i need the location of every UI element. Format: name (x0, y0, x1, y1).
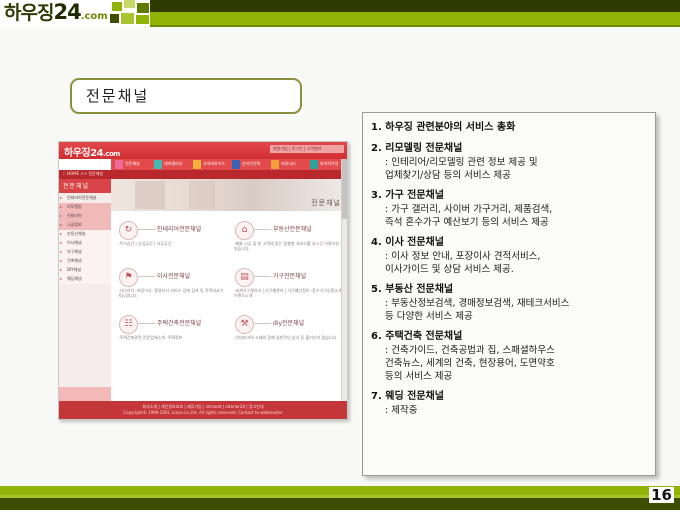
description-item-line: : 이사 정보 안내, 포장이사 견적서비스, (371, 250, 649, 263)
channel-name: 이사전문채널 (157, 271, 190, 280)
description-item-heading: 7. 웨딩 전문채널 (371, 390, 649, 404)
site-sidebar-item-label: 부동산채널 (67, 231, 85, 237)
channel-description: -매물 시공 및 분 고객에 맞는 맞춤형 서비스를 실시간 이용하실 수 있습… (234, 241, 344, 251)
site-utility-links: 회원가입 | 로그인 | 고객센터 (273, 146, 321, 152)
channel-icon: ⌂ (235, 221, 254, 240)
description-item-line: 이사가이드 및 상담 서비스 제공. (371, 263, 649, 276)
sidebar-bullet-icon: ▸ (60, 204, 62, 209)
description-item-line: 등 다양한 서비스 제공 (371, 310, 649, 323)
slide-title-box: 전문채널 (70, 78, 302, 114)
site-sidebar-item-label: 인테리어 (67, 213, 82, 219)
site-nav-swatch (193, 160, 201, 169)
site-nav-item-5[interactable]: 커뮤니티 (271, 160, 309, 169)
description-list: 1. 하우징 관련분야의 서비스 총화2. 리모델링 전문채널: 인테리어/리모… (363, 113, 655, 424)
site-nav-swatch (310, 160, 318, 169)
brand-logo-number: 24 (53, 0, 80, 24)
channel-name: diy전문채널 (273, 318, 304, 327)
site-logo-dotcom: .com (103, 150, 120, 158)
channel-icon: ⚒ (235, 315, 254, 334)
site-sidebar-item-label: 인테리어전문채널 (67, 195, 96, 201)
sidebar-bullet-icon: ▸ (60, 276, 62, 281)
site-sidebar-item-6[interactable]: ▸이사채널 (59, 239, 111, 248)
channel-connector (137, 276, 155, 277)
description-item-line: : 제작중 (371, 404, 649, 417)
channel-icon: ⚑ (119, 268, 138, 287)
channel-link-2[interactable]: ⌂부동산전문채널-매물 시공 및 분 고객에 맞는 맞춤형 서비스를 실시간 이… (233, 219, 345, 263)
description-item-line: : 가구 갤러리, 사이버 가구거리, 제품검색, (371, 203, 649, 216)
site-nav-swatch (115, 160, 123, 169)
site-sidebar-item-5[interactable]: ▸부동산채널 (59, 230, 111, 239)
site-sidebar-item-2[interactable]: ▸리모델링 (59, 203, 111, 212)
site-logo-number: 24 (90, 148, 103, 159)
site-sidebar-item-label: 시공정보 (67, 222, 82, 228)
brand-logo-dotcom: .com (81, 11, 108, 22)
site-banner: 전문채널 (111, 179, 347, 211)
description-item-heading: 3. 가구 전문채널 (371, 189, 649, 203)
channel-link-5[interactable]: ☷주택건축전문채널-주택건축관련 전문업체소개 -주택정보 (117, 313, 229, 357)
site-nav-label: 테마갤러리 (164, 161, 182, 167)
sidebar-bullet-icon: ▸ (60, 231, 62, 236)
channel-link-6[interactable]: ⚒diy전문채널-인테리어의 소재와 함께 일반적인 상식 등 볼거리가 많습니… (233, 313, 345, 357)
site-footer-copyright: Copyright© 1999-2001 acasa.co.,ltd. All … (59, 410, 347, 415)
site-footer: 회사소개 | 개인정보보호 | 제휴가입 | intranet | interi… (59, 401, 347, 419)
channel-connector (253, 323, 271, 324)
description-item-2: 2. 리모델링 전문채널: 인테리어/리모델링 관련 정보 제공 및업체찾기/상… (371, 142, 649, 182)
description-item-line: : 인테리어/리모델링 관련 정보 제공 및 (371, 156, 649, 169)
site-nav-item-4[interactable]: 온라인견적 (232, 160, 270, 169)
description-item-heading: 4. 이사 전문채널 (371, 236, 649, 250)
site-breadcrumb: :: HOME >> 전문채널 (59, 170, 347, 179)
description-item-heading: 5. 부동산 전문채널 (371, 283, 649, 297)
site-sidebar-title-text: 전문채널 (63, 181, 89, 190)
logo-square-6 (136, 15, 149, 24)
site-nav-swatch (154, 160, 162, 169)
description-item-line: : 건축가이드, 건축공법과 집, 스패셜하우스 (371, 344, 649, 357)
site-sidebar-item-9[interactable]: ▸DIY채널 (59, 266, 111, 275)
channel-link-3[interactable]: ⚑이사전문채널-사다리차 -포장이사 -용달이사 서비스 업체 검색 및 견적비… (117, 266, 229, 310)
logo-square-2 (124, 0, 135, 8)
channel-connector (137, 323, 155, 324)
channel-icon: ↻ (119, 221, 138, 240)
brand-logo-korean: 하우징 (4, 2, 53, 24)
site-sidebar-item-10[interactable]: ▸웨딩채널 (59, 275, 111, 284)
site-logo-korean: 하우징 (64, 148, 90, 159)
site-sidebar-item-label: 리모델링 (67, 204, 82, 210)
description-item-line: : 부동산정보검색, 경매정보검색, 재테크서비스 (371, 297, 649, 310)
logo-square-1 (112, 2, 122, 11)
site-nav-label: 전문채널 (125, 161, 140, 167)
description-item-heading: 2. 리모델링 전문채널 (371, 142, 649, 156)
site-sidebar-footer-block (59, 387, 111, 401)
site-nav-label: 온라인견적 (242, 161, 260, 167)
sidebar-bullet-icon: ▸ (60, 267, 62, 272)
logo-square-3 (137, 3, 149, 13)
description-item-heading: 1. 하우징 관련분야의 서비스 총화 (371, 121, 649, 135)
channel-connector (253, 276, 271, 277)
site-sidebar-title: 전문채널 (59, 179, 111, 193)
description-item-line: 즉석 혼수가구 예산보기 등의 서비스 제공 (371, 216, 649, 229)
site-utility-bar[interactable]: 회원가입 | 로그인 | 고객센터 (270, 145, 344, 153)
site-banner-text: 전문채널 (311, 198, 341, 208)
site-sidebar-item-label: 가구채널 (67, 249, 82, 255)
site-nav-label: 커뮤니티 (281, 161, 296, 167)
description-item-3: 3. 가구 전문채널: 가구 갤러리, 사이버 가구거리, 제품검색,즉석 혼수… (371, 189, 649, 229)
site-nav-label: 사이버하우스 (203, 161, 225, 167)
channel-name: 가구전문채널 (273, 271, 306, 280)
description-item-line: 건축뉴스, 세계의 건축, 현장용어, 도면약호 (371, 357, 649, 370)
site-header: 하우징24.com 회원가입 | 로그인 | 고객센터 (59, 142, 347, 159)
sidebar-bullet-icon: ▸ (60, 213, 62, 218)
site-sidebar: 전문채널 ▸인테리어전문채널▸리모델링▸인테리어▸시공정보▸부동산채널▸이사채널… (59, 179, 111, 401)
sidebar-bullet-icon: ▸ (60, 258, 62, 263)
description-item-heading: 6. 주택건축 전문채널 (371, 330, 649, 344)
channel-name: 인테리어전문채널 (157, 224, 201, 233)
bottom-dark-bar (0, 498, 680, 510)
channel-description: -세계가구갤러리 | 가구별관리 | 가구예산정보 -혼수가구상품소개/브랜드소… (234, 288, 344, 298)
description-item-6: 6. 주택건축 전문채널: 건축가이드, 건축공법과 집, 스패셜하우스건축뉴스… (371, 330, 649, 383)
channel-connector (137, 229, 155, 230)
description-item-4: 4. 이사 전문채널: 이사 정보 안내, 포장이사 견적서비스,이사가이드 및… (371, 236, 649, 276)
site-breadcrumb-text: :: HOME >> 전문채널 (63, 171, 103, 177)
site-main-content: ↻인테리어전문채널-주거공간 | 상업공간 | 사무공간⌂부동산전문채널-매물 … (111, 211, 347, 401)
channel-link-1[interactable]: ↻인테리어전문채널-주거공간 | 상업공간 | 사무공간 (117, 219, 229, 263)
page-number: 16 (649, 487, 674, 503)
site-nav-swatch (232, 160, 240, 169)
site-scrollbar-thumb[interactable] (342, 159, 347, 219)
site-sidebar-item-4[interactable]: ▸시공정보 (59, 221, 111, 230)
logo-square-4 (110, 14, 119, 23)
description-item-line: 등의 서비스 제공 (371, 370, 649, 383)
site-sidebar-item-7[interactable]: ▸가구채널 (59, 248, 111, 257)
site-sidebar-item-label: DIY채널 (67, 267, 81, 273)
site-nav-item-3[interactable]: 사이버하우스 (193, 160, 231, 169)
sidebar-bullet-icon: ▸ (60, 195, 62, 200)
banner-block-1 (135, 181, 165, 209)
brand-logo: 하우징24.com (0, 0, 150, 27)
channel-description: -주거공간 | 상업공간 | 사무공간 (118, 241, 228, 246)
channel-connector (253, 229, 271, 230)
logo-square-5 (121, 13, 134, 24)
website-screenshot: 하우징24.com 회원가입 | 로그인 | 고객센터 전문채널테마갤러리사이버… (58, 141, 348, 420)
channel-icon: ▤ (235, 268, 254, 287)
channel-link-4[interactable]: ▤가구전문채널-세계가구갤러리 | 가구별관리 | 가구예산정보 -혼수가구상품… (233, 266, 345, 310)
site-sidebar-item-3[interactable]: ▸인테리어 (59, 212, 111, 221)
site-nav-label: 마이하우징 (320, 161, 338, 167)
sidebar-bullet-icon: ▸ (60, 240, 62, 245)
channel-icon: ☷ (119, 315, 138, 334)
site-nav-spacer (59, 159, 111, 170)
page-title: 전문채널 (86, 85, 149, 106)
site-sidebar-item-label: 이사채널 (67, 240, 82, 246)
site-nav-item-1[interactable]: 전문채널 (115, 160, 153, 169)
description-item-1: 1. 하우징 관련분야의 서비스 총화 (371, 121, 649, 135)
site-sidebar-item-label: 건축채널 (67, 258, 82, 264)
channel-description: -인테리어의 소재와 함께 일반적인 상식 등 볼거리가 많습니다. (234, 335, 344, 340)
site-logo: 하우징24.com (64, 144, 120, 159)
site-scrollbar[interactable] (341, 159, 347, 401)
channel-description: -사다리차 -포장이사 -용달이사 서비스 업체 검색 및 견적비교가 가능합니… (118, 288, 228, 298)
sidebar-bullet-icon: ▸ (60, 249, 62, 254)
sidebar-bullet-icon: ▸ (60, 222, 62, 227)
brand-logo-text: 하우징24.com (4, 1, 108, 28)
site-nav-item-2[interactable]: 테마갤러리 (154, 160, 192, 169)
description-item-line: 업체찾기/상담 등의 서비스 제공 (371, 169, 649, 182)
channel-name: 부동산전문채널 (273, 224, 312, 233)
site-sidebar-item-1[interactable]: ▸인테리어전문채널 (59, 194, 111, 203)
channel-description: -주택건축관련 전문업체소개 -주택정보 (118, 335, 228, 340)
site-nav-swatch (271, 160, 279, 169)
description-item-7: 7. 웨딩 전문채널: 제작중 (371, 390, 649, 417)
channel-name: 주택건축전문채널 (157, 318, 201, 327)
site-nav-bar[interactable]: 전문채널테마갤러리사이버하우스온라인견적커뮤니티마이하우징 (59, 159, 347, 170)
site-sidebar-item-label: 웨딩채널 (67, 276, 82, 282)
description-panel: 1. 하우징 관련분야의 서비스 총화2. 리모델링 전문채널: 인테리어/리모… (362, 112, 656, 476)
site-sidebar-item-8[interactable]: ▸건축채널 (59, 257, 111, 266)
banner-block-2 (189, 181, 215, 209)
description-item-5: 5. 부동산 전문채널: 부동산정보검색, 경매정보검색, 재테크서비스등 다양… (371, 283, 649, 323)
